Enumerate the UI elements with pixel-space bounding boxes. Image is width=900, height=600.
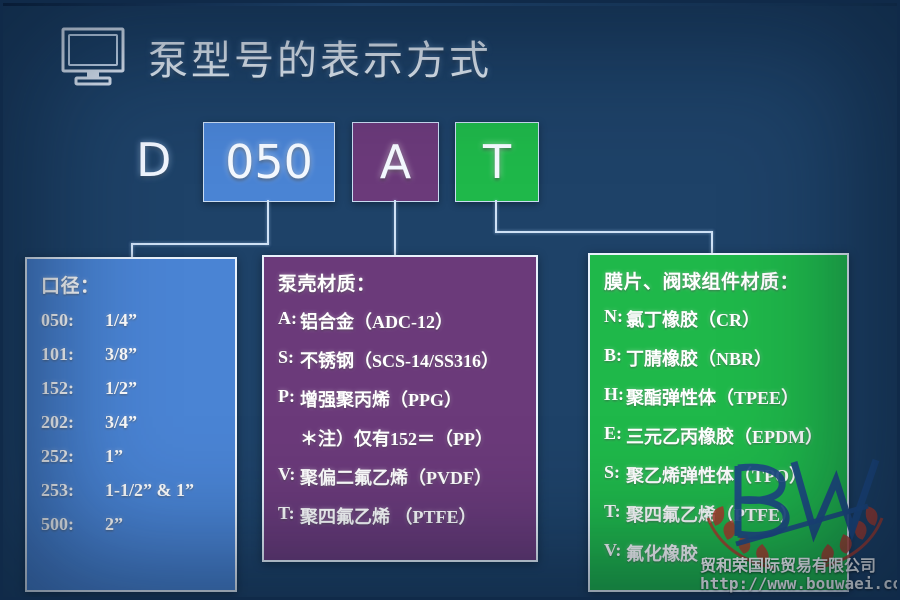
- list-item: P: 增强聚丙烯（PPG）: [278, 386, 526, 412]
- panel-pump-body: 泵壳材质： A: 铝合金（ADC-12） S: 不锈钢（SCS-14/SS316…: [262, 255, 538, 562]
- row-key: T:: [604, 501, 626, 527]
- panel-diameter: 口径： 050: 1/4” 101: 3/8” 152: 1/2” 202: 3…: [25, 257, 237, 592]
- list-item: A: 铝合金（ADC-12）: [278, 308, 526, 334]
- list-item: T: 聚四氟乙烯 （PTFE）: [278, 503, 526, 529]
- page-title: 泵型号的表示方式: [60, 26, 492, 88]
- row-key: 101:: [41, 344, 99, 365]
- row-key: 152:: [41, 378, 99, 399]
- list-item: 050: 1/4”: [41, 310, 225, 331]
- page-title-text: 泵型号的表示方式: [148, 28, 492, 86]
- panel-diameter-title: 口径：: [41, 271, 225, 298]
- row-key: V:: [604, 540, 626, 566]
- row-key: V:: [278, 464, 300, 490]
- connector-t-vertical: [495, 200, 497, 233]
- connector-050-vertical: [267, 200, 269, 245]
- list-item: N: 氯丁橡胶（CR）: [604, 306, 837, 332]
- top-stripe: [0, 0, 900, 6]
- row-value: 铝合金（ADC-12）: [300, 308, 453, 334]
- row-key: T:: [278, 503, 300, 529]
- row-value: 1”: [99, 446, 123, 467]
- row-key: S:: [278, 347, 300, 373]
- row-key: H:: [604, 384, 626, 410]
- list-item: 101: 3/8”: [41, 344, 225, 365]
- row-key: E:: [604, 423, 626, 449]
- row-key: S:: [604, 462, 626, 488]
- row-value: 2”: [99, 514, 123, 535]
- code-segment-t[interactable]: T: [455, 122, 539, 202]
- row-value: 增强聚丙烯（PPG）: [300, 386, 462, 412]
- row-value: 三元乙丙橡胶（EPDM）: [626, 423, 823, 449]
- row-value: 聚偏二氟乙烯（PVDF）: [300, 464, 492, 490]
- list-item: S: 不锈钢（SCS-14/SS316）: [278, 347, 526, 373]
- row-value: 氟化橡胶: [626, 540, 698, 566]
- connector-t-horizontal: [495, 231, 713, 233]
- row-value: 不锈钢（SCS-14/SS316）: [300, 347, 499, 373]
- row-value: 1/2”: [99, 378, 137, 399]
- row-value: 1-1/2” & 1”: [99, 480, 194, 501]
- row-value: 聚乙烯弹性体（TPO）: [626, 462, 807, 488]
- watermark-url: http://www.bouwaei.com: [700, 574, 900, 593]
- code-segment-050[interactable]: 050: [203, 122, 335, 202]
- row-key: P:: [278, 386, 300, 412]
- monitor-icon: [60, 26, 126, 88]
- list-item: 253: 1-1/2” & 1”: [41, 480, 225, 501]
- list-item: 152: 1/2”: [41, 378, 225, 399]
- list-item: 500: 2”: [41, 514, 225, 535]
- row-value: ＊注）仅有152＝（PP）: [300, 425, 493, 451]
- list-item: H: 聚酯弹性体（TPEE）: [604, 384, 837, 410]
- connector-a-vertical: [394, 200, 396, 256]
- list-item: E: 三元乙丙橡胶（EPDM）: [604, 423, 837, 449]
- list-item: B: 丁腈橡胶（NBR）: [604, 345, 837, 371]
- row-value: 丁腈橡胶（NBR）: [626, 345, 772, 371]
- connector-t-drop: [711, 231, 713, 255]
- list-item: T: 聚四氟乙烯（PTFE）: [604, 501, 837, 527]
- row-value: 氯丁橡胶（CR）: [626, 306, 760, 332]
- row-key: 253:: [41, 480, 99, 501]
- panel-valve-parts-title: 膜片、阀球组件材质：: [604, 267, 837, 294]
- watermark-company: 贸和荣国际贸易有限公司: [700, 552, 876, 576]
- row-value: 聚四氟乙烯 （PTFE）: [300, 503, 477, 529]
- list-item: 252: 1”: [41, 446, 225, 467]
- list-item: S: 聚乙烯弹性体（TPO）: [604, 462, 837, 488]
- row-value: 1/4”: [99, 310, 137, 331]
- panel-valve-parts: 膜片、阀球组件材质： N: 氯丁橡胶（CR） B: 丁腈橡胶（NBR） H: 聚…: [588, 253, 849, 592]
- row-key: N:: [604, 306, 626, 332]
- row-key: 500:: [41, 514, 99, 535]
- diagram-canvas: 泵型号的表示方式 D 050 A T 口径： 050: 1/4” 101: 3/…: [0, 0, 900, 600]
- list-item: V: 聚偏二氟乙烯（PVDF）: [278, 464, 526, 490]
- row-key: 252:: [41, 446, 99, 467]
- panel-pump-body-title: 泵壳材质：: [278, 269, 526, 296]
- list-item: 202: 3/4”: [41, 412, 225, 433]
- row-key: A:: [278, 308, 300, 334]
- row-key: 202:: [41, 412, 99, 433]
- connector-050-horizontal: [131, 243, 269, 245]
- row-value: 3/8”: [99, 344, 137, 365]
- row-value: 聚四氟乙烯（PTFE）: [626, 501, 798, 527]
- row-value: 聚酯弹性体（TPEE）: [626, 384, 799, 410]
- row-value: 3/4”: [99, 412, 137, 433]
- code-segment-d: D: [136, 137, 171, 183]
- code-segment-a[interactable]: A: [352, 122, 439, 202]
- row-key: 050:: [41, 310, 99, 331]
- list-item-note: ＊注）仅有152＝（PP）: [278, 425, 526, 451]
- row-key: B:: [604, 345, 626, 371]
